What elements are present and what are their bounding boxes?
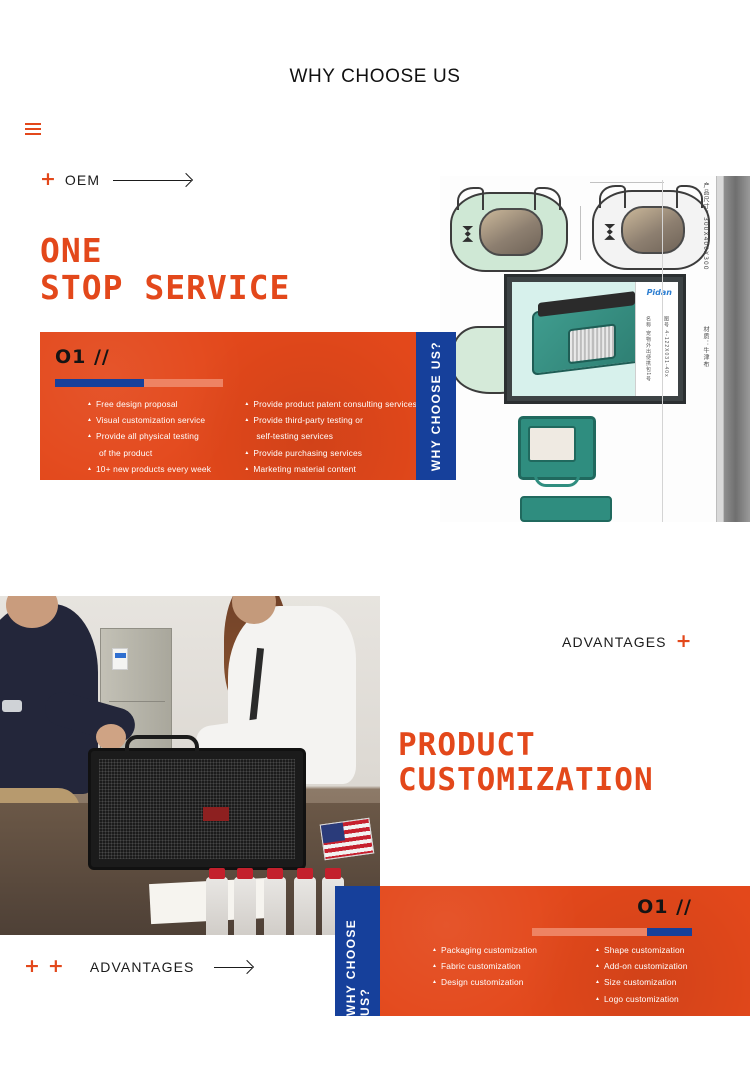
- why-choose-us-page: WHY CHOOSE US + OEM ONE STOP SERVICE: [0, 0, 750, 1078]
- carrier-clip: [462, 226, 473, 242]
- wristwatch: [2, 700, 22, 712]
- drawing-margin: [716, 176, 724, 522]
- arrow-right-icon: [113, 175, 191, 185]
- pet-carrier-bottom-view: [520, 496, 612, 522]
- features-columns: Free design proposal Visual customizatio…: [87, 396, 417, 477]
- dimension-line: [580, 206, 581, 260]
- carrier-mesh-panel: [99, 759, 295, 859]
- list-item: Fabric customization: [432, 958, 579, 974]
- plus-icon: +: [676, 632, 692, 651]
- tab-label: WHY CHOOSE US?: [429, 341, 443, 471]
- features-column-2: Shape customization Add-on customization…: [595, 942, 744, 1007]
- progress-bar: [532, 928, 692, 936]
- list-item: Provide product patent consulting servic…: [244, 396, 417, 412]
- carrier-mesh-panel: [568, 323, 617, 364]
- tab-label: WHY CHOOSE US?: [344, 886, 372, 1016]
- hamburger-line: [25, 123, 41, 125]
- carrier-lid: [538, 291, 635, 317]
- panel-number: O1 //: [55, 346, 110, 368]
- features-column-1: Packaging customization Fabric customiza…: [432, 942, 579, 1007]
- cad-screen: Pidan 图号 4-122X031-40x 名称 宠物外出便携包1号: [512, 282, 678, 396]
- list-item: Provide purchasing services: [244, 445, 417, 461]
- section-heading-one-stop-service: ONE STOP SERVICE: [40, 232, 290, 307]
- hamburger-icon[interactable]: [25, 123, 41, 135]
- features-panel-product-customization: O1 // Packaging customization Fabric cus…: [380, 886, 750, 1016]
- factory-inspection-photo: [0, 596, 380, 935]
- bottle: [264, 877, 286, 935]
- list-item-continuation: self-testing services: [244, 428, 417, 444]
- list-item: Provide all physical testing: [87, 428, 232, 444]
- features-columns: Packaging customization Fabric customiza…: [432, 942, 744, 1007]
- hamburger-line: [25, 133, 41, 135]
- list-item: Size customization: [595, 974, 744, 990]
- eyebrow-oem[interactable]: + OEM: [40, 170, 191, 189]
- bottle: [294, 877, 316, 935]
- section-heading-product-customization: PRODUCT CUSTOMIZATION: [398, 728, 654, 798]
- carrier-ear: [534, 187, 561, 210]
- bottle: [234, 877, 256, 935]
- why-choose-us-tab-top: WHY CHOOSE US?: [416, 332, 456, 480]
- titleblock-text: 名称 宠物外出便携包1号: [645, 316, 652, 382]
- list-item: Marketing material content: [244, 461, 417, 477]
- progress-bar-track: [532, 928, 647, 936]
- us-flag-icon: [320, 818, 375, 861]
- progress-bar-track: [144, 379, 223, 387]
- carrier-handle: [125, 735, 199, 753]
- eyebrow-label: ADVANTAGES: [90, 959, 195, 975]
- dimension-line: [590, 182, 664, 183]
- list-item: 10+ new products every week: [87, 461, 232, 477]
- list-item: Visual customization service: [87, 412, 232, 428]
- plus-icon: +: [24, 957, 40, 976]
- pet-carrier-front-view: [518, 416, 596, 480]
- carrier-tag: [203, 807, 229, 821]
- black-pet-carrier: [88, 748, 306, 870]
- drawing-caption: 产品尺寸：300X400X300: [701, 182, 710, 271]
- list-item: Logo customization: [595, 991, 744, 1007]
- list-item: Shape customization: [595, 942, 744, 958]
- eyebrow-label: ADVANTAGES: [562, 634, 667, 650]
- page-title: WHY CHOOSE US: [0, 66, 750, 88]
- list-item-continuation: of the product: [87, 445, 232, 461]
- eyebrow-advantages-bottom[interactable]: + + ADVANTAGES: [24, 957, 252, 976]
- arrow-right-icon: [214, 962, 252, 972]
- features-column-1: Free design proposal Visual customizatio…: [87, 396, 232, 477]
- carrier-3d-render: [532, 298, 642, 375]
- carrier-window: [479, 208, 543, 257]
- cabinet-label: [112, 648, 128, 670]
- person-hand: [96, 724, 126, 750]
- ruler: [724, 176, 750, 522]
- features-panel-one-stop-service: O1 // Free design proposal Visual custom…: [40, 332, 416, 480]
- list-item: Free design proposal: [87, 396, 232, 412]
- list-item: Design customization: [432, 974, 579, 990]
- drawing-sheet: Pidan 图号 4-122X031-40x 名称 宠物外出便携包1号 产品尺寸…: [440, 176, 750, 522]
- progress-bar: [55, 379, 223, 387]
- drawing-caption: 材质：牛津布: [701, 326, 710, 368]
- why-choose-us-tab-bottom: WHY CHOOSE US?: [335, 886, 380, 1016]
- cad-monitor: Pidan 图号 4-122X031-40x 名称 宠物外出便携包1号: [504, 274, 686, 404]
- pet-carrier-mint: [450, 192, 568, 272]
- carrier-ear: [457, 187, 484, 210]
- panel-number: O1 //: [637, 896, 692, 918]
- plus-icon: +: [48, 957, 64, 976]
- features-column-2: Provide product patent consulting servic…: [244, 396, 417, 477]
- eyebrow-label: OEM: [65, 172, 100, 188]
- carrier-window: [528, 426, 576, 462]
- carrier-ear: [599, 185, 626, 208]
- list-item: Packaging customization: [432, 942, 579, 958]
- product-design-drawings-image: Pidan 图号 4-122X031-40x 名称 宠物外出便携包1号 产品尺寸…: [440, 176, 750, 522]
- sample-bottles: [206, 861, 346, 935]
- hamburger-line: [25, 128, 41, 130]
- eyebrow-advantages-top[interactable]: ADVANTAGES +: [562, 632, 692, 651]
- list-item: Add-on customization: [595, 958, 744, 974]
- progress-bar-fill: [647, 928, 692, 936]
- plus-icon: +: [40, 170, 56, 189]
- bottle: [206, 877, 228, 935]
- carrier-handle: [534, 475, 580, 487]
- progress-bar-fill: [55, 379, 144, 387]
- carrier-clip: [604, 224, 615, 240]
- list-item: Provide third-party testing or: [244, 412, 417, 428]
